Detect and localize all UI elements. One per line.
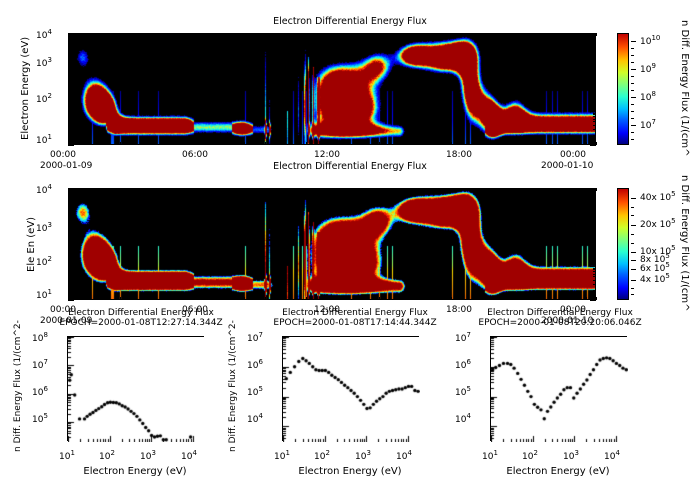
ytick-exp: 5 (258, 385, 262, 393)
xtick-label: 00:00 (50, 150, 76, 160)
spectrum-2-ylabel: n Diff. Energy Flux (1/(cm^2- (228, 320, 238, 452)
ytick-exp: 4 (47, 183, 51, 191)
ytick-label: 10 (455, 415, 466, 425)
xtick-exp: 2 (110, 449, 114, 457)
colorbar-gradient (618, 189, 628, 299)
xtick-exp: 1 (70, 449, 74, 457)
ytick-exp: 1 (47, 133, 51, 141)
spectrum-3-title: Electron Differential Energy Flux (455, 308, 665, 318)
cb-exp: 5 (665, 261, 669, 269)
xtick-exp: 1 (493, 449, 497, 457)
ytick-label: 10 (455, 334, 466, 344)
spectrum-1-title: Electron Differential Energy Flux (36, 308, 246, 318)
xtick-label: 06:00 (182, 150, 208, 160)
spectrum-3-plot[interactable] (490, 336, 627, 441)
xtick-label: 10 (140, 452, 151, 462)
ytick-exp: 2 (47, 255, 51, 263)
xtick-exp: 3 (151, 449, 155, 457)
ytick-exp: 5 (466, 385, 470, 393)
ytick-exp: 7 (258, 331, 262, 339)
ytick-label: 10 (36, 291, 47, 301)
spectrogram-top-colorbar-label: n Diff. Energy Flux (1/(cm^ (679, 20, 690, 157)
cb-label: 4x 10 (640, 275, 665, 285)
ytick-exp: 7 (466, 331, 470, 339)
cb-exp: 10 (651, 34, 660, 42)
ytick-label: 10 (247, 388, 258, 398)
spectrogram-mid-colorbar[interactable] (617, 188, 629, 300)
ytick-label: 10 (247, 334, 258, 344)
xtick-label: 18:00 (446, 150, 472, 160)
xtick-label: 10 (181, 452, 192, 462)
xtick-exp: 4 (615, 449, 619, 457)
spectrogram-mid-colorbar-label: n Diff. Energy Flux (1/(cm^ (679, 175, 690, 312)
ytick-exp: 6 (466, 358, 470, 366)
spectrogram-top-plot[interactable] (68, 33, 596, 145)
ytick-exp: 1 (47, 288, 51, 296)
ytick-label: 10 (36, 136, 47, 146)
ytick-exp: 3 (47, 221, 51, 229)
cb-label: 20x 10 (640, 220, 671, 230)
xtick-label: 10 (355, 452, 366, 462)
ytick-exp: 4 (47, 28, 51, 36)
ytick-label: 10 (36, 224, 47, 234)
xtick-date: 2000-01-10 (541, 161, 593, 171)
spectrogram-mid-title: Electron Differential Energy Flux (185, 161, 515, 172)
spectrum-1-plot[interactable] (67, 336, 204, 441)
ytick-exp: 5 (43, 412, 47, 420)
ytick-label: 10 (32, 334, 43, 344)
xtick-label: 10 (314, 452, 325, 462)
xtick-label: 12:00 (314, 150, 340, 160)
xtick-label: 00:00 (560, 150, 586, 160)
ytick-exp: 2 (47, 92, 51, 100)
ytick-label: 10 (247, 415, 258, 425)
ytick-label: 10 (36, 59, 47, 69)
ytick-exp: 4 (258, 412, 262, 420)
xtick-exp: 2 (325, 449, 329, 457)
xtick-label: 10 (396, 452, 407, 462)
cb-exp: 5 (665, 252, 669, 260)
spectrum-1-xlabel: Electron Energy (eV) (60, 466, 210, 477)
cb-exp: 5 (671, 217, 675, 225)
cb-label: 40x 10 (640, 193, 671, 203)
spectrum-3-epoch: EPOCH=2000-01-08T20:20:06.046Z (455, 318, 665, 328)
cb-exp: 5 (671, 190, 675, 198)
xtick-label: 10 (99, 452, 110, 462)
ytick-label: 10 (36, 186, 47, 196)
xtick-label: 10 (563, 452, 574, 462)
cb-exp: 5 (665, 272, 669, 280)
cb-exp: 9 (651, 62, 655, 70)
ytick-exp: 3 (47, 56, 51, 64)
spectrum-3-xlabel: Electron Energy (eV) (483, 466, 633, 477)
xtick-exp: 4 (407, 449, 411, 457)
xtick-exp: 1 (285, 449, 289, 457)
cb-exp: 8 (651, 90, 655, 98)
xtick-exp: 3 (574, 449, 578, 457)
xtick-label: 10 (604, 452, 615, 462)
spectrum-1-ylabel: n Diff. Energy Flux (1/(cm^2- (13, 320, 23, 452)
ytick-exp: 8 (43, 331, 47, 339)
xtick-exp: 3 (366, 449, 370, 457)
spectrogram-top-title: Electron Differential Energy Flux (185, 16, 515, 27)
ytick-exp: 4 (466, 412, 470, 420)
xtick-label: 10 (59, 452, 70, 462)
cb-label: 10 (640, 65, 651, 75)
ytick-label: 10 (455, 361, 466, 371)
ytick-label: 10 (36, 95, 47, 105)
ytick-exp: 6 (43, 385, 47, 393)
ytick-exp: 6 (258, 358, 262, 366)
ytick-label: 10 (32, 415, 43, 425)
xtick-label: 10 (274, 452, 285, 462)
xtick-date: 2000-01-09 (40, 161, 92, 171)
ytick-label: 10 (32, 388, 43, 398)
spectrum-2-xlabel: Electron Energy (eV) (275, 466, 425, 477)
cb-exp: 7 (651, 118, 655, 126)
spectrum-2-plot[interactable] (282, 336, 419, 441)
spectrogram-top-ylabel: Electron Energy (eV) (20, 37, 31, 140)
cb-exp: 5 (671, 244, 675, 252)
cb-label: 10 (640, 93, 651, 103)
spectrum-2-title: Electron Differential Energy Flux (250, 308, 460, 318)
spectrogram-mid-plot[interactable] (68, 188, 596, 300)
xtick-exp: 2 (533, 449, 537, 457)
ytick-label: 10 (455, 388, 466, 398)
spectrogram-top-colorbar[interactable] (617, 33, 629, 145)
xtick-exp: 4 (192, 449, 196, 457)
cb-label: 10 (640, 37, 651, 47)
ytick-label: 10 (247, 361, 258, 371)
spectrum-1-epoch: EPOCH=2000-01-08T12:27:14.344Z (36, 318, 246, 328)
cb-label: 10 (640, 121, 651, 131)
colorbar-gradient (618, 34, 628, 144)
xtick-label: 10 (522, 452, 533, 462)
spectrum-2-epoch: EPOCH=2000-01-08T17:14:44.344Z (250, 318, 460, 328)
ytick-label: 10 (32, 361, 43, 371)
xtick-label: 10 (482, 452, 493, 462)
ytick-label: 10 (36, 258, 47, 268)
ytick-label: 10 (36, 31, 47, 41)
ytick-exp: 7 (43, 358, 47, 366)
